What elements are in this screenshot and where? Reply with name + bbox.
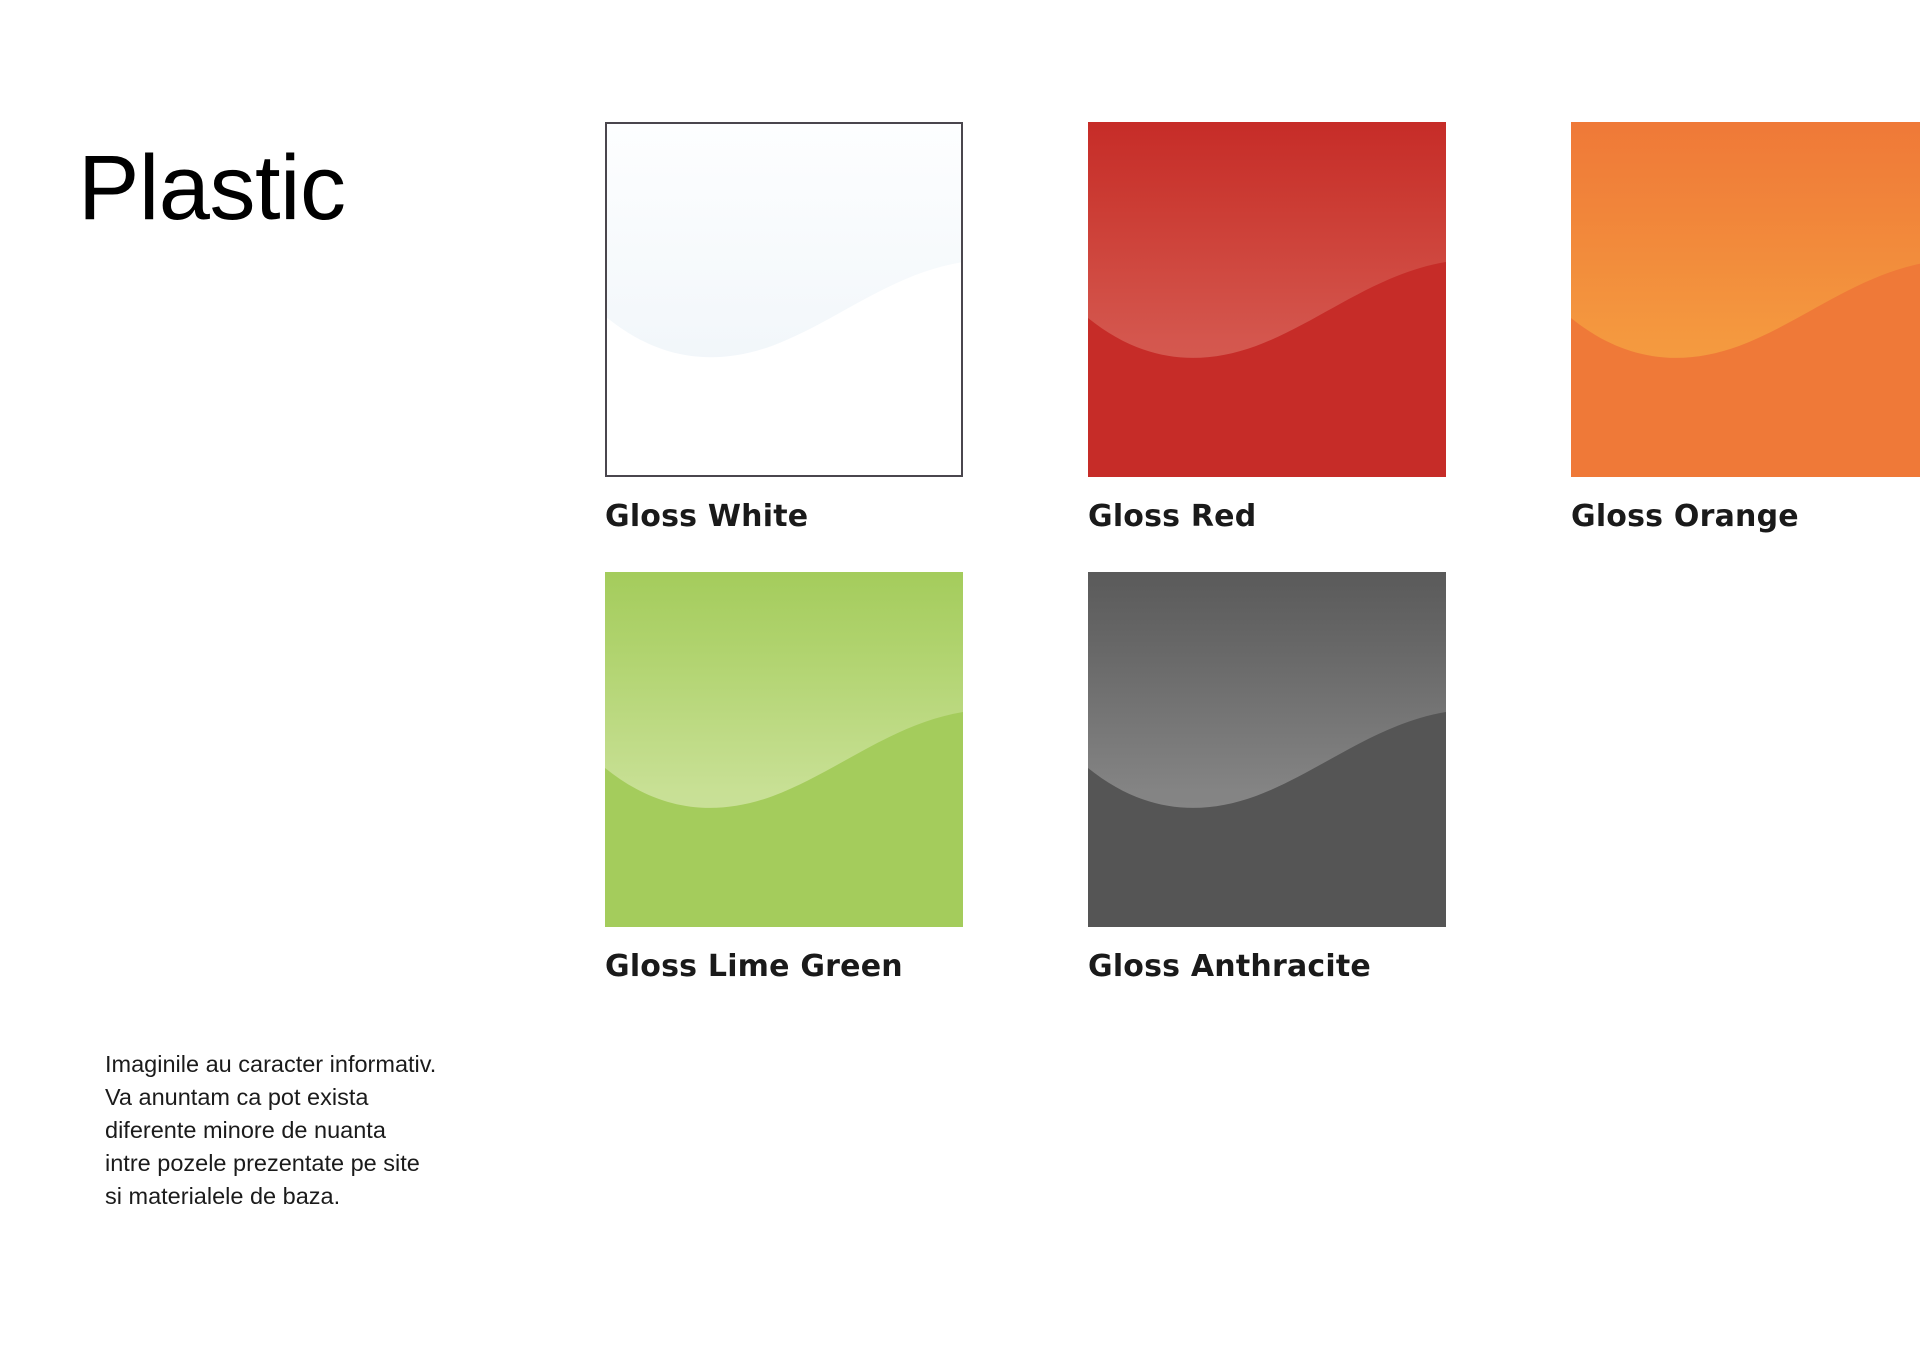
swatch-tile-gloss-red[interactable]	[1088, 122, 1446, 477]
swatch-tile-gloss-white[interactable]	[605, 122, 963, 477]
swatch-label-gloss-lime-green: Gloss Lime Green	[605, 949, 963, 984]
swatch-label-gloss-orange: Gloss Orange	[1571, 499, 1920, 534]
page-title: Plastic	[78, 140, 345, 237]
disclaimer-text: Imaginile au caracter informativ. Va anu…	[105, 1048, 535, 1213]
disclaimer-line-3: diferente minore de nuanta	[105, 1114, 535, 1147]
swatch-tile-gloss-orange[interactable]	[1571, 122, 1920, 477]
swatch-label-gloss-anthracite: Gloss Anthracite	[1088, 949, 1446, 984]
swatch-tile-gloss-lime-green[interactable]	[605, 572, 963, 927]
swatch-gloss-lime-green[interactable]: Gloss Lime Green	[605, 572, 963, 984]
swatch-gradient-gloss-red	[1088, 122, 1446, 477]
swatch-gloss-anthracite[interactable]: Gloss Anthracite	[1088, 572, 1446, 984]
disclaimer-line-5: si materialele de baza.	[105, 1180, 535, 1213]
swatch-label-gloss-white: Gloss White	[605, 499, 963, 534]
disclaimer-line-1: Imaginile au caracter informativ.	[105, 1048, 535, 1081]
disclaimer-line-2: Va anuntam ca pot exista	[105, 1081, 535, 1114]
swatch-gradient-gloss-anthracite	[1088, 572, 1446, 927]
plastic-swatch-page: Plastic Gloss White	[0, 0, 1920, 1357]
swatch-grid: Gloss White	[605, 122, 1920, 952]
swatch-gloss-orange[interactable]: Gloss Orange	[1571, 122, 1920, 534]
disclaimer-line-4: intre pozele prezentate pe site	[105, 1147, 535, 1180]
swatch-gradient-gloss-white	[607, 124, 961, 475]
swatch-label-gloss-red: Gloss Red	[1088, 499, 1446, 534]
swatch-gradient-gloss-lime-green	[605, 572, 963, 927]
swatch-tile-gloss-anthracite[interactable]	[1088, 572, 1446, 927]
swatch-gloss-white[interactable]: Gloss White	[605, 122, 963, 534]
swatch-gradient-gloss-orange	[1571, 122, 1920, 477]
swatch-gloss-red[interactable]: Gloss Red	[1088, 122, 1446, 534]
